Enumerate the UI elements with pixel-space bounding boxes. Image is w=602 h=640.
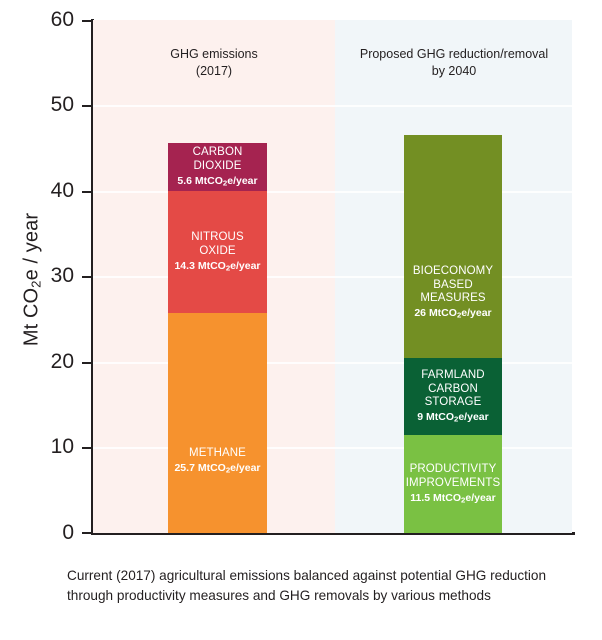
y-tick-label-10: 10 (14, 435, 74, 459)
plot-area: METHANE 25.7 MtCO2e/year NITROUSOXIDE 14… (93, 20, 572, 533)
bar-segment-productivity-improvements-label: PRODUCTIVITYIMPROVEMENTS (406, 463, 501, 490)
bar-segment-carbon-dioxide-label: CARBONDIOXIDE (177, 146, 257, 173)
bar-segment-nitrous-oxide-value: 14.3 MtCO2e/year (174, 260, 260, 273)
bar-segment-methane[interactable]: METHANE 25.7 MtCO2e/year (168, 313, 267, 533)
bar-segment-farmland-carbon-storage-label: FARMLANDCARBONSTORAGE (417, 369, 488, 410)
bar-segment-productivity-improvements[interactable]: PRODUCTIVITYIMPROVEMENTS 11.5 MtCO2e/yea… (404, 435, 502, 533)
bar-segment-farmland-carbon-storage-value: 9 MtCO2e/year (417, 411, 488, 424)
bar-segment-carbon-dioxide-value: 5.6 MtCO2e/year (177, 175, 257, 188)
y-tick-label-60: 60 (14, 8, 74, 32)
y-tick-label-30: 30 (14, 264, 74, 288)
bar-stack-ghg-reductions[interactable]: PRODUCTIVITYIMPROVEMENTS 11.5 MtCO2e/yea… (404, 135, 502, 533)
bar-segment-carbon-dioxide[interactable]: CARBONDIOXIDE 5.6 MtCO2e/year (168, 143, 267, 191)
y-axis-title-prefix: Mt CO (21, 288, 43, 346)
gridline-50 (93, 105, 572, 107)
y-tick-label-20: 20 (14, 350, 74, 374)
bar-segment-methane-label: METHANE (174, 447, 260, 461)
bar-segment-bioeconomy-based-measures-label: BIOECONOMYBASEDMEASURES (413, 265, 493, 306)
chart-figure: Mt CO2e / year 60 50 40 30 20 10 0 METHA… (0, 0, 602, 640)
column-heading-reductions: Proposed GHG reduction/removalby 2040 (338, 46, 570, 80)
y-tick-label-0: 0 (14, 521, 74, 545)
y-tick-label-50: 50 (14, 93, 74, 117)
bar-segment-bioeconomy-based-measures-value: 26 MtCO2e/year (413, 307, 493, 320)
bar-segment-methane-value: 25.7 MtCO2e/year (174, 462, 260, 475)
bar-segment-farmland-carbon-storage[interactable]: FARMLANDCARBONSTORAGE 9 MtCO2e/year (404, 358, 502, 435)
column-heading-emissions: GHG emissions(2017) (104, 46, 324, 80)
bar-segment-productivity-improvements-value: 11.5 MtCO2e/year (406, 492, 501, 505)
bar-segment-nitrous-oxide-label: NITROUSOXIDE (174, 231, 260, 258)
y-tick-label-40: 40 (14, 179, 74, 203)
bar-stack-ghg-emissions[interactable]: METHANE 25.7 MtCO2e/year NITROUSOXIDE 14… (168, 143, 267, 533)
bar-segment-bioeconomy-based-measures[interactable]: BIOECONOMYBASEDMEASURES 26 MtCO2e/year (404, 135, 502, 358)
bar-segment-nitrous-oxide[interactable]: NITROUSOXIDE 14.3 MtCO2e/year (168, 191, 267, 313)
chart-caption: Current (2017) agricultural emissions ba… (67, 566, 587, 605)
